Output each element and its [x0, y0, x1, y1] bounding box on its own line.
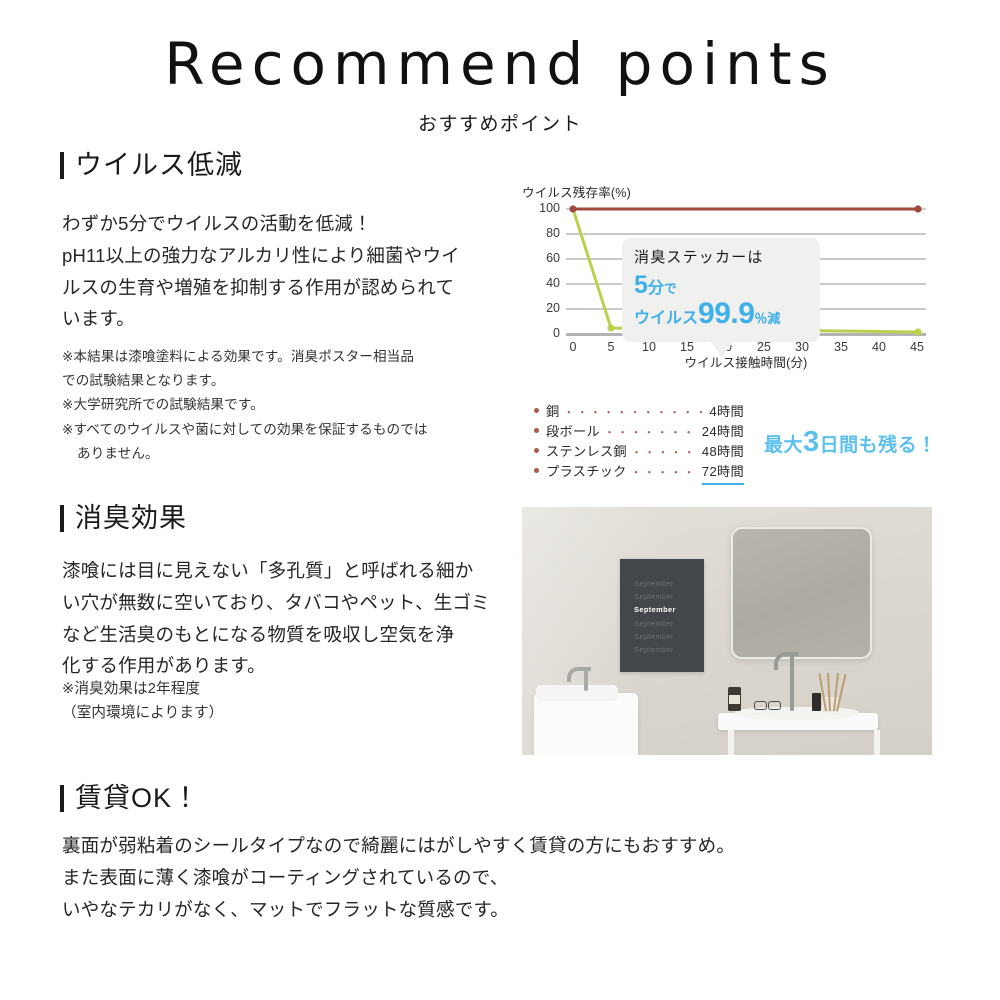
- callout-minutes-particle: で: [664, 281, 677, 296]
- photo-eyeglasses: [754, 701, 784, 709]
- body-line: ルスの生育や増殖を抑制する作用が認められて: [62, 272, 522, 304]
- chart-y-axis-label: ウイルス残存率(%): [522, 182, 631, 201]
- body-line: また表面に薄く漆喰がコーティングされているので、: [62, 862, 942, 894]
- max-days-highlight: 最大3日間も残る！: [764, 428, 937, 457]
- note-line: ※大学研究所での試験結果です。: [62, 393, 532, 417]
- max-days-number: 3: [803, 426, 820, 458]
- y-tick-label: 40: [528, 276, 560, 290]
- callout-line-1: 消臭ステッカーは: [634, 249, 810, 268]
- body-line: い穴が無数に空いており、タバコやペット、生ゴミ: [62, 587, 522, 619]
- poster-line: September: [620, 590, 704, 603]
- body-line: pH11以上の強力なアルカリ性により細菌やウイ: [62, 240, 522, 272]
- note-line: ※本結果は漆喰塗料による効果です。消臭ポスター相当品: [62, 345, 532, 369]
- legend-material-label: ステンレス銅: [546, 442, 627, 462]
- callout-line-3: ウイルス99.9％減: [634, 298, 810, 330]
- callout-reduction-suffix: 減: [767, 311, 780, 326]
- poster-line: September: [620, 643, 704, 656]
- leader-dots-icon: ・・・・・: [631, 465, 698, 482]
- series-sticker-point: [607, 324, 614, 331]
- poster-line-active: September: [620, 603, 704, 616]
- leader-dots-icon: ・・・・・: [631, 445, 698, 462]
- section-marker-bar-icon: [60, 505, 64, 532]
- callout-minutes-number: 5: [634, 271, 648, 299]
- legend-duration-value: 72時間: [702, 462, 744, 485]
- y-tick-label: 20: [528, 301, 560, 315]
- list-item: ステンレス銅 ・・・・・ 48時間: [534, 442, 744, 462]
- photo-toilet-tank: [534, 693, 638, 755]
- body-line: わずか5分でウイルスの活動を低減！: [62, 208, 522, 240]
- leader-dots-icon: ・・・・・・・・: [604, 425, 698, 442]
- callout-percent-sign: ％: [754, 311, 767, 326]
- bullet-dot-icon: [534, 448, 539, 453]
- leader-dots-icon: ・・・・・・・・・・・: [564, 405, 706, 422]
- legend-material-label: 銅: [546, 402, 560, 422]
- legend-material-label: プラスチック: [546, 462, 627, 482]
- section-deodorizing-heading: 消臭効果: [60, 505, 187, 532]
- bullet-dot-icon: [534, 428, 539, 433]
- section-heading-label: 賃貸OK！: [75, 785, 200, 812]
- note-line: での試験結果となります。: [62, 369, 532, 393]
- surface-survival-legend: 銅 ・・・・・・・・・・・ 4時間 段ボール ・・・・・・・・ 24時間 ステン…: [534, 402, 744, 485]
- bathroom-photo: September September September September …: [522, 507, 932, 755]
- callout-line-2: 5分で: [634, 272, 810, 298]
- series-control-point: [914, 205, 921, 212]
- body-line: いやなテカリがなく、マットでフラットな質感です。: [62, 894, 942, 926]
- section-marker-bar-icon: [60, 785, 64, 812]
- chart-x-axis-label: ウイルス接触時間(分): [566, 352, 926, 371]
- y-tick-label: 0: [528, 326, 560, 340]
- section-deodorizing-notes: ※消臭効果は2年程度 （室内環境によります）: [62, 678, 522, 725]
- body-line: など生活臭のもとになる物質を吸収し空気を浄: [62, 619, 522, 651]
- section-marker-bar-icon: [60, 152, 64, 179]
- legend-duration-value: 48時間: [702, 442, 744, 462]
- note-line: ※すべてのウイルスや菌に対しての効果を保証するものでは: [62, 418, 532, 442]
- note-line: ありません。: [62, 442, 532, 466]
- legend-material-label: 段ボール: [546, 422, 600, 442]
- chart-callout-bubble: 消臭ステッカーは 5分で ウイルス99.9％減: [622, 238, 820, 342]
- section-heading-label: ウイルス低減: [75, 152, 243, 179]
- photo-reed-sticks: [824, 671, 838, 711]
- section-rental-ok-body: 裏面が弱粘着のシールタイプなので綺麗にはがしやすく賃貸の方にもおすすめ。 また表…: [62, 830, 942, 925]
- callout-virus-label: ウイルス: [634, 310, 698, 327]
- photo-bottle: [728, 687, 741, 711]
- photo-toilet-faucet: [584, 669, 588, 691]
- photo-september-poster: September September September September …: [620, 559, 704, 672]
- section-virus-reduction-heading: ウイルス低減: [60, 152, 243, 179]
- callout-reduction-number: 99.9: [698, 297, 754, 330]
- body-line: います。: [62, 303, 522, 335]
- photo-diffuser-bottle: [812, 693, 821, 711]
- page-title: Recommend points: [0, 34, 1000, 95]
- section-heading-label: 消臭効果: [75, 505, 187, 532]
- poster-line: September: [620, 577, 704, 590]
- section-virus-notes: ※本結果は漆喰塗料による効果です。消臭ポスター相当品 での試験結果となります。 …: [62, 345, 532, 466]
- body-line: 裏面が弱粘着のシールタイプなので綺麗にはがしやすく賃貸の方にもおすすめ。: [62, 830, 942, 862]
- legend-duration-value: 4時間: [709, 402, 744, 422]
- recommend-points-page: Recommend points おすすめポイント ウイルス低減 わずか5分でウ…: [0, 0, 1000, 1000]
- page-header: Recommend points おすすめポイント: [0, 34, 1000, 136]
- section-deodorizing-body: 漆喰には目に見えない「多孔質」と呼ばれる細か い穴が無数に空いており、タバコやペ…: [62, 555, 522, 682]
- list-item: 銅 ・・・・・・・・・・・ 4時間: [534, 402, 744, 422]
- list-item: 段ボール ・・・・・・・・ 24時間: [534, 422, 744, 442]
- section-rental-ok-heading: 賃貸OK！: [60, 785, 200, 812]
- y-tick-label: 80: [528, 226, 560, 240]
- max-days-suffix: 日間も残る！: [820, 435, 937, 456]
- note-line: ※消臭効果は2年程度: [62, 678, 522, 702]
- series-control-point: [569, 205, 576, 212]
- max-days-prefix: 最大: [764, 435, 803, 456]
- y-tick-label: 100: [528, 201, 560, 215]
- y-tick-label: 60: [528, 251, 560, 265]
- photo-mirror: [731, 527, 872, 659]
- body-line: 漆喰には目に見えない「多孔質」と呼ばれる細か: [62, 555, 522, 587]
- section-virus-body: わずか5分でウイルスの活動を低減！ pH11以上の強力なアルカリ性により細菌やウ…: [62, 208, 522, 335]
- list-item: プラスチック ・・・・・ 72時間: [534, 462, 744, 485]
- poster-line: September: [620, 617, 704, 630]
- bullet-dot-icon: [534, 468, 539, 473]
- note-line: （室内環境によります）: [62, 702, 522, 726]
- callout-minutes-unit: 分: [648, 280, 664, 297]
- page-subtitle: おすすめポイント: [0, 109, 1000, 136]
- legend-duration-value: 24時間: [702, 422, 744, 442]
- poster-line: September: [620, 630, 704, 643]
- series-sticker-point: [914, 328, 921, 335]
- photo-faucet: [790, 655, 794, 711]
- photo-toilet-handwash-top: [536, 685, 618, 701]
- bullet-dot-icon: [534, 408, 539, 413]
